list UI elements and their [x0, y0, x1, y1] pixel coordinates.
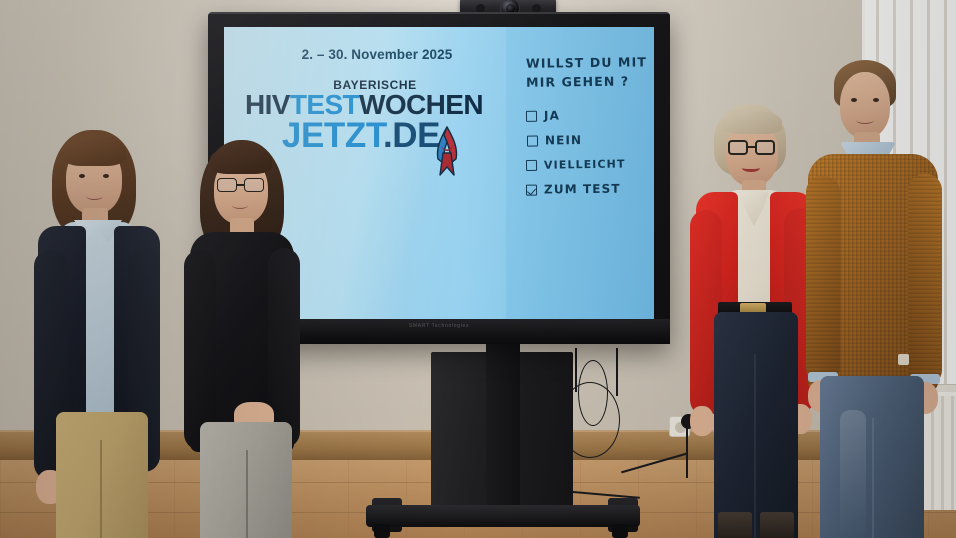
- photo-vignette: [0, 0, 956, 538]
- photo-scene: 2. – 30. November 2025 BAYERISCHE HIVTES…: [0, 0, 956, 538]
